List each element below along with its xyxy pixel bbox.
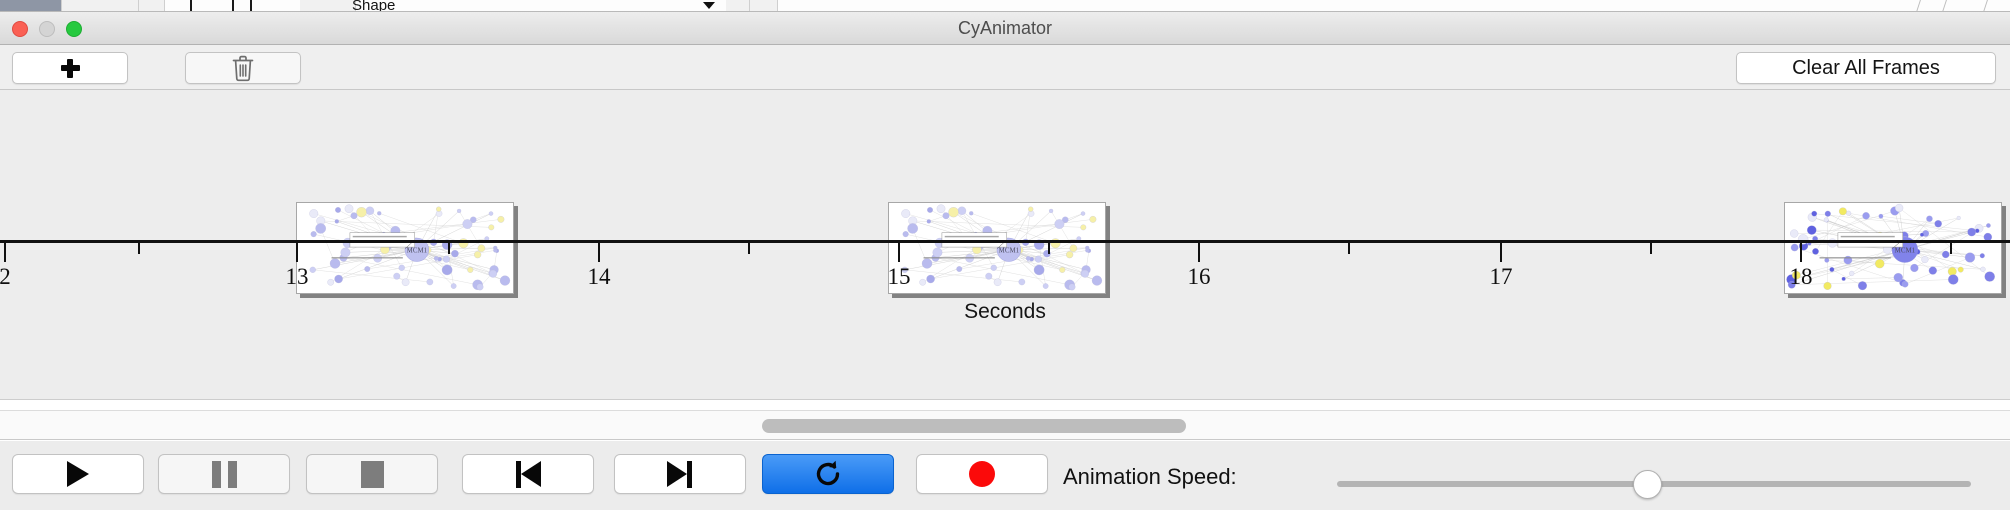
bg-slash	[1916, 0, 1921, 12]
cyanimator-window: Shape CyAnimator Clear All Frames	[0, 0, 2010, 510]
bg-slash	[1942, 0, 1947, 12]
animation-speed-label: Animation Speed:	[1063, 464, 1237, 490]
ruler-tick	[296, 243, 298, 262]
delete-frame-button[interactable]	[185, 52, 301, 84]
pause-icon	[212, 461, 237, 488]
background-window-strip: Shape	[0, 0, 2010, 12]
loop-icon	[813, 459, 843, 489]
title-bar[interactable]: CyAnimator	[0, 12, 2010, 45]
clear-all-frames-button[interactable]: Clear All Frames	[1736, 52, 1996, 84]
bg-segment	[726, 0, 750, 12]
stop-button[interactable]	[306, 454, 438, 494]
animation-speed-slider-thumb[interactable]	[1633, 470, 1662, 499]
stop-icon	[361, 461, 384, 488]
bg-tick	[190, 0, 192, 12]
ruler-tick	[1650, 243, 1652, 254]
bg-segment	[139, 0, 165, 12]
ruler-tick	[1348, 243, 1350, 254]
add-frame-button[interactable]	[12, 52, 128, 84]
record-button[interactable]	[916, 454, 1048, 494]
timeline-scrollbar[interactable]	[0, 410, 2010, 440]
ruler-tick	[448, 243, 450, 254]
ruler-tick-label: 2	[0, 264, 11, 290]
bg-segment	[750, 0, 778, 12]
skip-forward-button[interactable]	[614, 454, 746, 494]
ruler-tick	[1800, 243, 1802, 262]
scrollbar-thumb[interactable]	[762, 419, 1186, 433]
skip-next-icon	[666, 461, 694, 488]
loop-button[interactable]	[762, 454, 894, 494]
skip-back-button[interactable]	[462, 454, 594, 494]
timeline-ruler[interactable]: 2131415161718 Seconds	[0, 240, 2010, 330]
bg-segment	[300, 0, 356, 12]
bg-slash	[1983, 0, 1988, 12]
ruler-tick	[1048, 243, 1050, 254]
bg-shape-label: Shape	[352, 0, 395, 12]
ruler-tick	[1500, 243, 1502, 262]
ruler-tick-label: 18	[1790, 264, 1813, 290]
timeline-panel[interactable]: MCM1MCM1MCM1 2131415161718 Seconds	[0, 90, 2010, 400]
ruler-tick-label: 15	[888, 264, 911, 290]
ruler-tick	[4, 243, 6, 262]
ruler-tick	[898, 243, 900, 262]
bg-segment	[62, 0, 139, 12]
ruler-tick	[1198, 243, 1200, 262]
ruler-tick-label: 14	[588, 264, 611, 290]
play-button[interactable]	[12, 454, 144, 494]
play-icon	[67, 461, 89, 487]
ruler-tick	[598, 243, 600, 262]
bg-arrow-icon	[703, 2, 715, 9]
record-icon	[969, 461, 995, 487]
skip-previous-icon	[514, 461, 542, 488]
ruler-tick	[1950, 243, 1952, 254]
playback-bar: Animation Speed:	[0, 441, 2010, 510]
ruler-baseline	[0, 240, 2010, 243]
trash-icon	[231, 55, 255, 82]
bg-segment	[0, 0, 62, 12]
plus-icon	[61, 59, 80, 78]
window-title: CyAnimator	[0, 12, 2010, 45]
ruler-tick-label: 13	[286, 264, 309, 290]
ruler-tick	[138, 243, 140, 254]
axis-title: Seconds	[0, 300, 2010, 324]
pause-button[interactable]	[158, 454, 290, 494]
ruler-tick-label: 17	[1490, 264, 1513, 290]
bg-tick	[232, 0, 234, 12]
clear-all-frames-label: Clear All Frames	[1792, 57, 1940, 80]
ruler-tick-label: 16	[1188, 264, 1211, 290]
toolbar: Clear All Frames	[0, 45, 2010, 90]
bg-tick	[250, 0, 252, 12]
ruler-tick	[748, 243, 750, 254]
